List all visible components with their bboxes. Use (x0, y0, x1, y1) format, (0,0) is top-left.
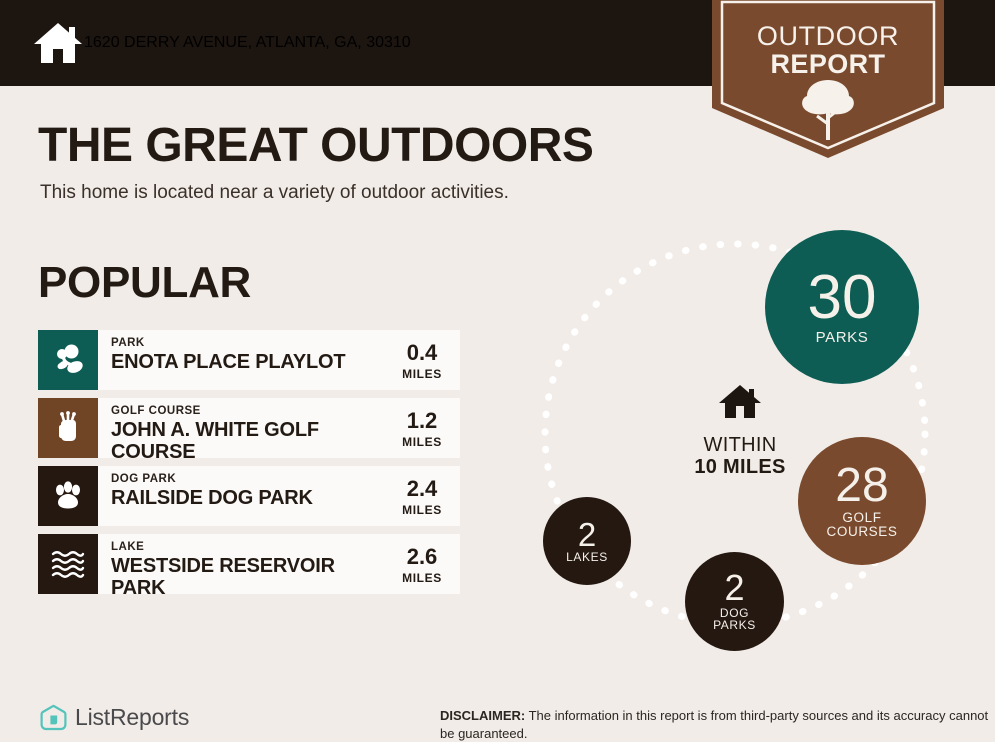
bubble-label-line2: COURSES (827, 524, 898, 539)
bubble-label-line2: PARKS (713, 618, 756, 632)
outdoor-report-badge: OUTDOOR REPORT (712, 0, 944, 158)
disclaimer: DISCLAIMER: The information in this repo… (440, 707, 995, 742)
item-text-block: DOG PARK RAILSIDE DOG PARK (98, 466, 384, 526)
item-distance-unit: MILES (384, 367, 460, 381)
popular-list: PARK ENOTA PLACE PLAYLOT 0.4 MILES (38, 330, 460, 602)
list-item[interactable]: LAKE WESTSIDE RESERVOIR PARK 2.6 MILES (38, 534, 460, 594)
outdoor-report-page: 1620 DERRY AVENUE, ATLANTA, GA, 30310 OU… (0, 0, 995, 741)
bubble-label: PARKS (816, 330, 869, 346)
item-distance-value: 2.4 (384, 478, 460, 500)
bubble-count: 28 (835, 463, 888, 509)
footer: ListReports DISCLAIMER: The information … (0, 694, 995, 741)
list-item[interactable]: PARK ENOTA PLACE PLAYLOT 0.4 MILES (38, 330, 460, 390)
item-category: PARK (111, 337, 384, 350)
home-icon (660, 382, 820, 427)
bubble-label-line1: GOLF (842, 510, 881, 525)
list-item[interactable]: DOG PARK RAILSIDE DOG PARK 2.4 MILES (38, 466, 460, 526)
item-name: RAILSIDE DOG PARK (111, 487, 384, 509)
item-name: WESTSIDE RESERVOIR PARK (111, 555, 384, 594)
center-line-2: 10 MILES (660, 456, 820, 478)
page-title: THE GREAT OUTDOORS (38, 118, 593, 173)
item-distance-unit: MILES (384, 435, 460, 449)
paw-print-icon (51, 479, 85, 513)
item-distance-unit: MILES (384, 571, 460, 585)
bubble-dog-parks[interactable]: 2 DOG PARKS (685, 552, 784, 651)
item-distance: 1.2 MILES (384, 398, 460, 458)
disclaimer-label: DISCLAIMER: (440, 708, 525, 723)
center-line-1: WITHIN (660, 434, 820, 456)
item-distance-value: 0.4 (384, 342, 460, 364)
item-distance: 2.6 MILES (384, 534, 460, 594)
amenities-circle-diagram: 30 PARKS 28 GOLF COURSES 2 DOG PARKS 2 L… (520, 222, 990, 652)
bubble-count: 30 (808, 269, 877, 328)
item-icon-tile (38, 330, 98, 390)
bubble-count: 2 (724, 571, 744, 605)
item-icon-tile (38, 398, 98, 458)
list-item[interactable]: GOLF COURSE JOHN A. WHITE GOLF COURSE 1.… (38, 398, 460, 458)
item-distance-unit: MILES (384, 503, 460, 517)
golf-bag-icon (51, 411, 85, 445)
item-distance-value: 2.6 (384, 546, 460, 568)
listreports-logo[interactable]: ListReports (40, 704, 189, 731)
item-distance: 0.4 MILES (384, 330, 460, 390)
bubble-label: GOLF COURSES (827, 511, 898, 539)
listreports-house-pin-icon (40, 704, 67, 731)
header-address: 1620 DERRY AVENUE, ATLANTA, GA, 30310 (84, 34, 411, 52)
diagram-center-label: WITHIN 10 MILES (660, 382, 820, 479)
item-name: ENOTA PLACE PLAYLOT (111, 351, 384, 373)
item-icon-tile (38, 534, 98, 594)
playground-icon (51, 343, 85, 377)
item-distance: 2.4 MILES (384, 466, 460, 526)
item-category: DOG PARK (111, 473, 384, 486)
page-subtitle: This home is located near a variety of o… (40, 182, 509, 204)
item-category: LAKE (111, 541, 384, 554)
bubble-parks[interactable]: 30 PARKS (765, 230, 919, 384)
bubble-label: LAKES (566, 551, 608, 564)
home-icon (32, 17, 84, 69)
item-text-block: PARK ENOTA PLACE PLAYLOT (98, 330, 384, 390)
bubble-count: 2 (578, 519, 596, 550)
item-icon-tile (38, 466, 98, 526)
bubble-lakes[interactable]: 2 LAKES (543, 497, 631, 585)
item-text-block: GOLF COURSE JOHN A. WHITE GOLF COURSE (98, 398, 384, 458)
item-name: JOHN A. WHITE GOLF COURSE (111, 419, 384, 458)
item-category: GOLF COURSE (111, 405, 384, 418)
listreports-logo-text: ListReports (75, 704, 189, 731)
popular-heading: POPULAR (38, 258, 251, 308)
item-distance-value: 1.2 (384, 410, 460, 432)
bubble-label: DOG PARKS (713, 607, 756, 632)
item-text-block: LAKE WESTSIDE RESERVOIR PARK (98, 534, 384, 594)
water-waves-icon (51, 549, 85, 579)
